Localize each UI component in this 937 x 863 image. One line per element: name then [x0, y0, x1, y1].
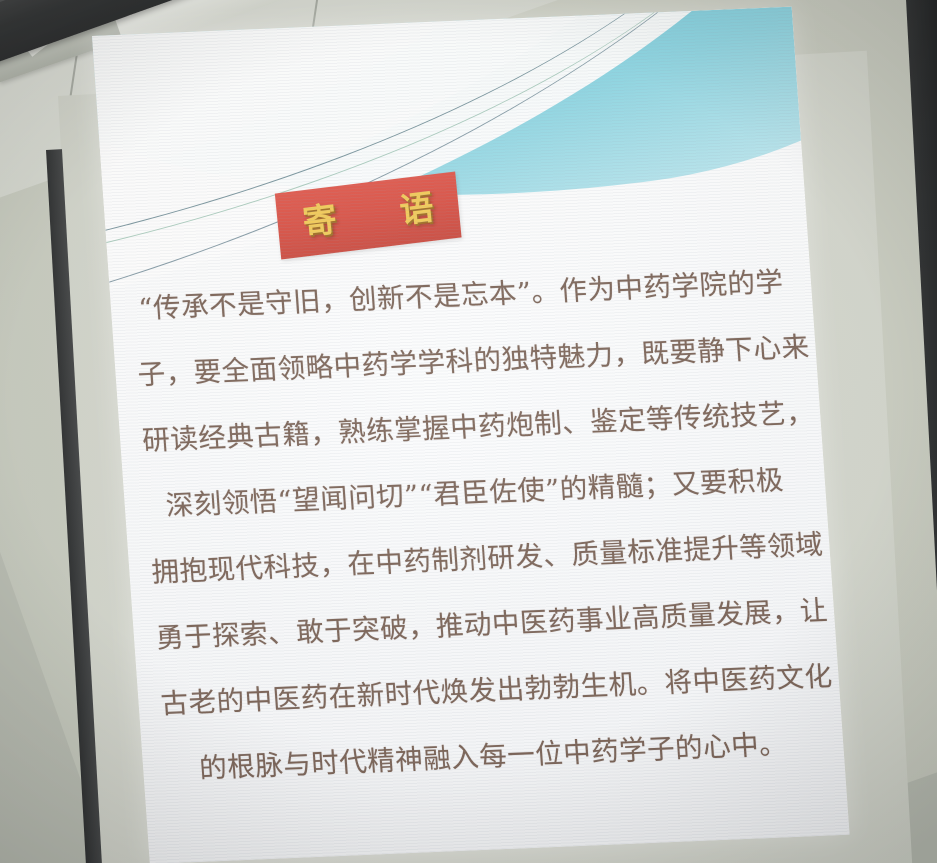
- slide-body-text: “传承不是守旧，创新不是忘本”。作为中药学院的学 子，要全面领略中药学学科的独特…: [131, 249, 824, 803]
- slide-canvas: 寄 语 “传承不是守旧，创新不是忘本”。作为中药学院的学 子，要全面领略中药学学…: [92, 7, 850, 863]
- photo-scene: 寄 语 “传承不是守旧，创新不是忘本”。作为中药学院的学 子，要全面领略中药学学…: [0, 0, 937, 863]
- slide-title: 寄 语: [275, 187, 460, 243]
- projected-slide: 寄 语 “传承不是守旧，创新不是忘本”。作为中药学院的学 子，要全面领略中药学学…: [92, 7, 850, 863]
